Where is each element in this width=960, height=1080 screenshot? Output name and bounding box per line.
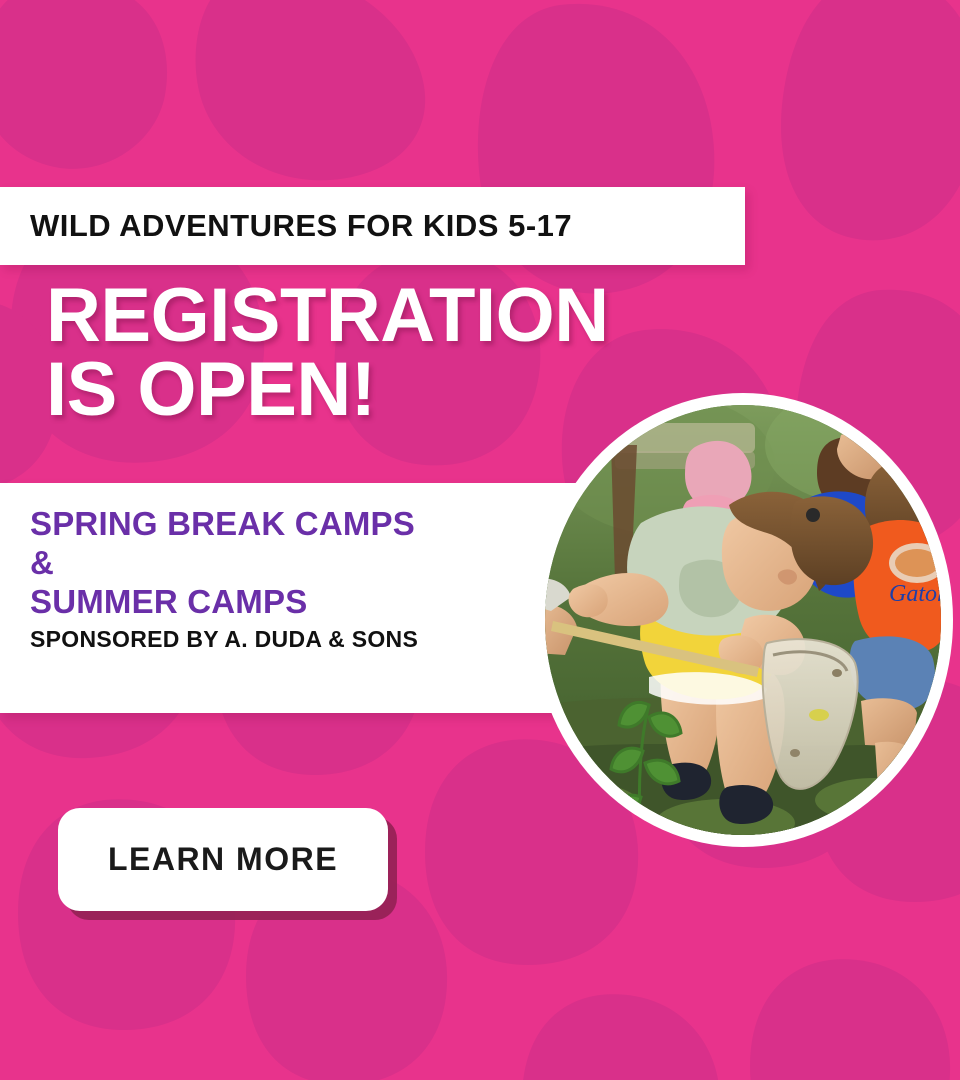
children-with-butterfly-net-photo: Gator [545,405,941,835]
page-title: REGISTRATION IS OPEN! [46,279,666,428]
gator-shirt-text: Gator [889,581,941,607]
sponsor-text: SPONSORED BY A. DUDA & SONS [30,626,610,653]
camp-line-summer: SUMMER CAMPS [30,583,610,622]
eyebrow-band: WILD ADVENTURES FOR KIDS 5-17 [0,187,745,265]
camp-line-spring-break: SPRING BREAK CAMPS [30,505,610,544]
promo-banner: WILD ADVENTURES FOR KIDS 5-17 REGISTRATI… [0,0,960,1080]
photo-circle-frame: Gator [533,393,953,847]
camp-line-ampersand: & [30,544,610,583]
headline-line-1: REGISTRATION [46,273,609,358]
learn-more-button[interactable]: LEARN MORE [58,808,388,911]
eyebrow-text: WILD ADVENTURES FOR KIDS 5-17 [30,208,572,244]
headline-line-2: IS OPEN! [46,353,666,427]
